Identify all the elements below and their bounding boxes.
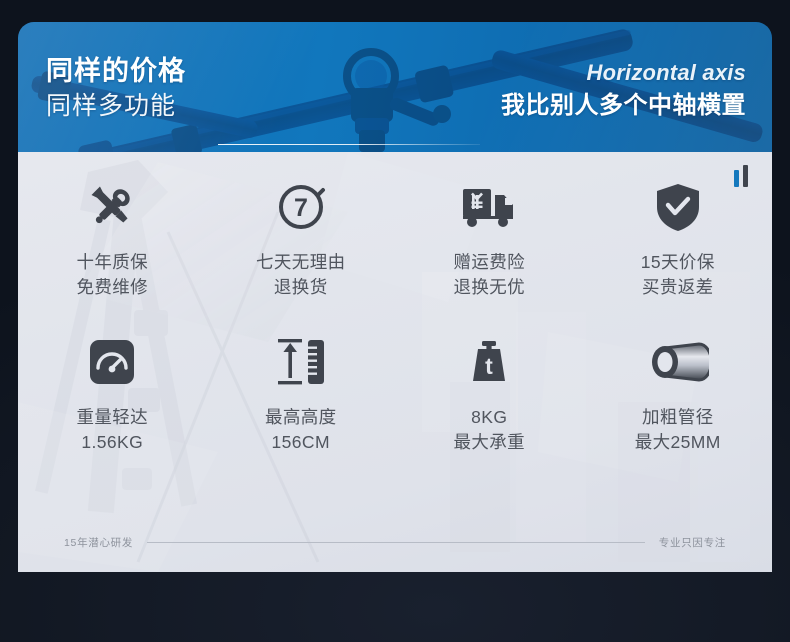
weight-scale-gauge-icon	[88, 335, 136, 389]
footer-left-text: 15年潜心研发	[64, 535, 133, 550]
brand-bar-dark	[743, 165, 748, 187]
feature-item-price-protection: 15天价保 买贵返差	[584, 174, 773, 329]
wrench-screwdriver-icon	[86, 180, 138, 234]
shield-check-icon	[655, 180, 701, 234]
load-weight-icon: t	[465, 335, 513, 389]
feature-item-warranty: 十年质保 免费维修	[18, 174, 207, 329]
feature-grid: 十年质保 免费维修 7 七天无理由 退换货	[18, 174, 772, 484]
feature-caption: 加粗管径 最大25MM	[635, 405, 721, 455]
feature-caption: 重量轻达 1.56KG	[76, 405, 148, 455]
feature-item-shipping-insurance: 赠运费险 退换无优	[395, 174, 584, 329]
brand-bar-blue	[734, 170, 739, 187]
footer-right-text: 专业只因专注	[659, 535, 726, 550]
header-left-title: 同样的价格 同样多功能	[46, 58, 186, 119]
card-body: 十年质保 免费维修 7 七天无理由 退换货	[18, 152, 772, 572]
thick-tube-icon	[647, 335, 709, 389]
feature-caption: 赠运费险 退换无优	[453, 250, 525, 300]
feature-item-light-weight: 重量轻达 1.56KG	[18, 329, 207, 484]
feature-item-max-load: t 8KG 最大承重	[395, 329, 584, 484]
svg-text:t: t	[485, 353, 493, 379]
brand-bars-mark	[734, 163, 748, 187]
svg-text:7: 7	[294, 194, 308, 222]
shipping-insurance-truck-icon	[461, 180, 517, 234]
card-footer: 15年潜心研发 专业只因专注	[18, 535, 772, 550]
header-left-line1: 同样的价格	[46, 58, 186, 85]
max-height-ruler-icon	[274, 335, 328, 389]
card-header: 同样的价格 同样多功能 Horizontal axis 我比别人多个中轴横置	[18, 22, 772, 152]
feature-caption: 8KG 最大承重	[453, 405, 525, 455]
footer-divider-line	[147, 542, 645, 543]
feature-caption: 15天价保 买贵返差	[641, 250, 715, 300]
feature-item-max-height: 最高高度 156CM	[207, 329, 396, 484]
feature-item-tube-diameter: 加粗管径 最大25MM	[584, 329, 773, 484]
seven-days-circle-icon: 7	[276, 180, 326, 234]
product-feature-card: 同样的价格 同样多功能 Horizontal axis 我比别人多个中轴横置	[18, 22, 772, 572]
header-left-line2: 同样多功能	[46, 94, 186, 119]
header-right-line1: Horizontal axis	[501, 62, 746, 84]
header-right-title: Horizontal axis 我比别人多个中轴横置	[501, 62, 746, 118]
feature-caption: 十年质保 免费维修	[76, 250, 148, 300]
feature-caption: 七天无理由 退换货	[256, 250, 346, 300]
header-right-line2: 我比别人多个中轴横置	[501, 94, 746, 118]
feature-item-seven-day-return: 7 七天无理由 退换货	[207, 174, 396, 329]
header-divider-line	[218, 144, 480, 145]
feature-caption: 最高高度 156CM	[265, 405, 337, 455]
